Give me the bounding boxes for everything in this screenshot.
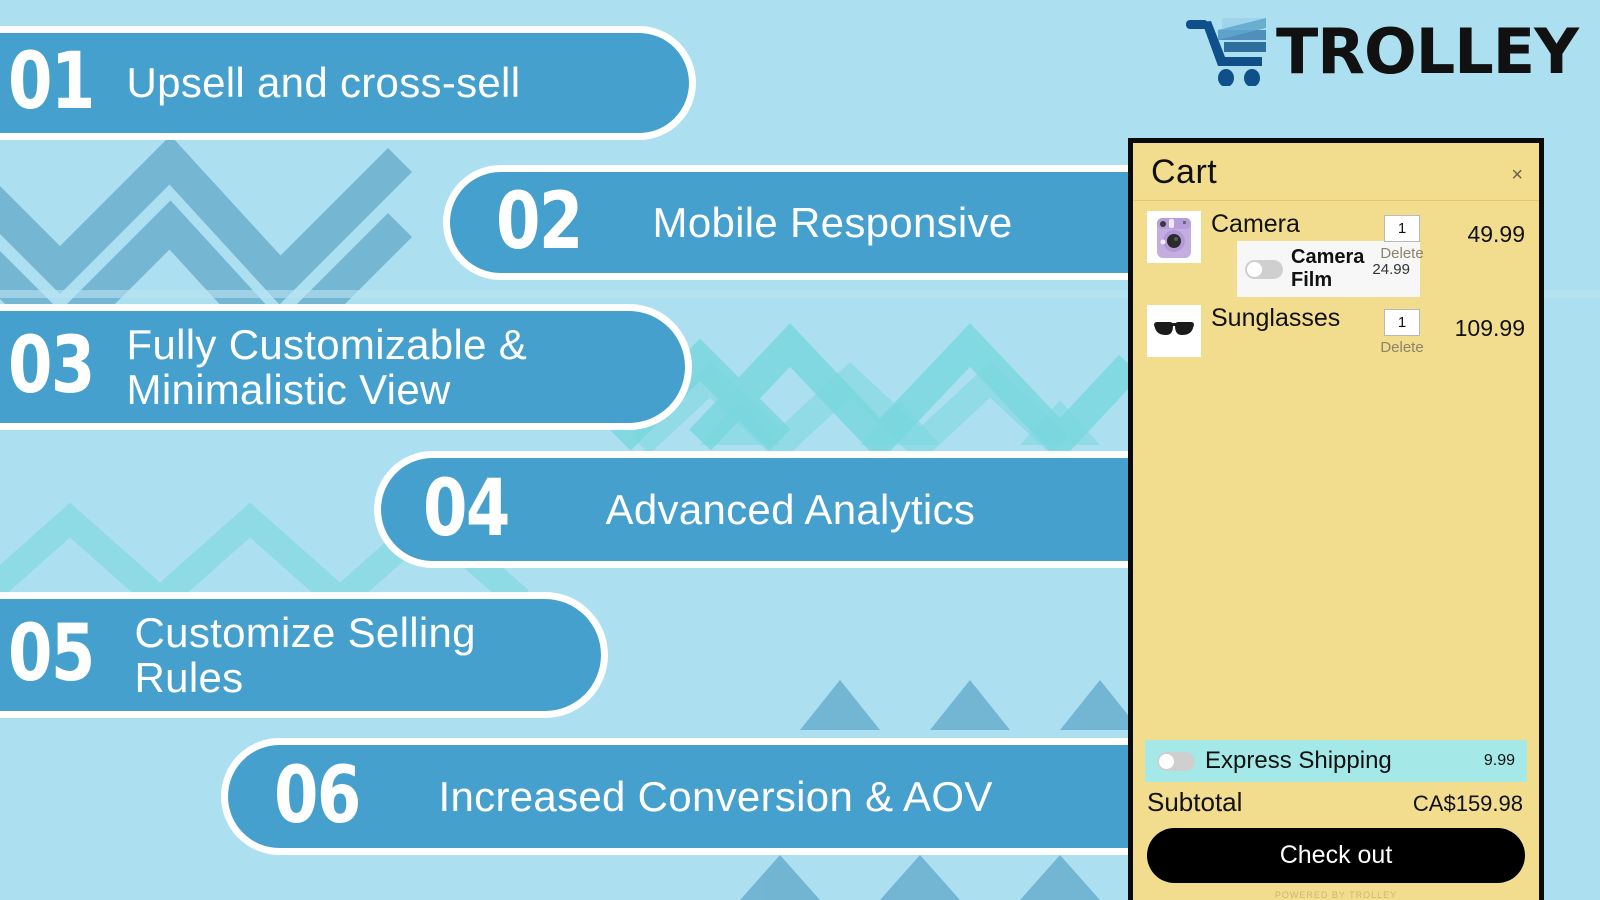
cart-panel: Cart ×: [1128, 138, 1544, 900]
brand-logo: TROLLEY: [1184, 12, 1578, 91]
feature-label: Increased Conversion & AOV: [439, 774, 993, 819]
cart-item-list: Camera Camera Film 24.99 1 Delete 49.99: [1133, 201, 1539, 361]
quantity-input[interactable]: 1: [1384, 215, 1420, 242]
quantity-input[interactable]: 1: [1384, 309, 1420, 336]
shopping-cart-icon: [1184, 12, 1270, 91]
feature-bar-03: 03 Fully Customizable & Minimalistic Vie…: [0, 304, 692, 430]
addon-name: Camera Film: [1291, 246, 1364, 292]
brand-wordmark: TROLLEY: [1276, 21, 1578, 83]
feature-bar-02: 02 Mobile Responsive: [443, 165, 1148, 280]
toggle-off-icon[interactable]: [1157, 752, 1195, 771]
subtotal-label: Subtotal: [1147, 787, 1413, 818]
feature-number: 04: [423, 474, 509, 546]
feature-number: 02: [496, 187, 582, 259]
delete-link[interactable]: Delete: [1371, 245, 1433, 262]
express-shipping-row[interactable]: Express Shipping 9.99: [1145, 740, 1527, 782]
cart-item-name: Sunglasses: [1211, 305, 1371, 331]
feature-bar-04: 04 Advanced Analytics: [374, 451, 1148, 568]
cart-item-price: 109.99: [1433, 305, 1525, 342]
feature-bar-05: 05 Customize Selling Rules: [0, 592, 608, 718]
cart-item-name: Camera: [1211, 211, 1371, 237]
feature-number: 05: [8, 619, 94, 691]
feature-label: Advanced Analytics: [606, 487, 976, 532]
cart-item-price: 49.99: [1433, 211, 1525, 248]
addon-price: 24.99: [1372, 261, 1410, 278]
feature-bar-06: 06 Increased Conversion & AOV: [221, 738, 1148, 855]
cart-item-qty-col: 1 Delete: [1371, 305, 1433, 356]
slide-canvas: TROLLEY 01 Upsell and cross-sell 02 Mobi…: [0, 0, 1600, 900]
feature-label: Upsell and cross-sell: [127, 60, 521, 105]
feature-label: Customize Selling Rules: [135, 610, 476, 701]
cart-item-main: Camera Camera Film 24.99: [1201, 211, 1371, 297]
feature-label: Mobile Responsive: [653, 200, 1013, 245]
close-icon[interactable]: ×: [1511, 165, 1523, 185]
subtotal-value: CA$159.98: [1413, 791, 1523, 817]
sunglasses-thumbnail: [1147, 305, 1201, 357]
delete-link[interactable]: Delete: [1371, 339, 1433, 356]
feature-number: 01: [8, 47, 94, 119]
feature-bar-01: 01 Upsell and cross-sell: [0, 26, 696, 140]
cart-item-qty-col: 1 Delete: [1371, 211, 1433, 262]
checkout-button[interactable]: Check out: [1147, 828, 1525, 883]
express-shipping-label: Express Shipping: [1205, 747, 1474, 775]
express-shipping-price: 9.99: [1484, 752, 1515, 770]
feature-label: Fully Customizable & Minimalistic View: [127, 322, 527, 413]
cart-title: Cart: [1151, 153, 1521, 192]
powered-by-label: POWERED BY TROLLEY: [1133, 883, 1539, 900]
feature-number: 06: [274, 761, 360, 833]
subtotal-row: Subtotal CA$159.98: [1133, 782, 1539, 824]
toggle-off-icon[interactable]: [1245, 260, 1283, 279]
cart-item-row: Sunglasses 1 Delete 109.99: [1133, 301, 1539, 361]
feature-number: 03: [8, 331, 94, 403]
cart-header: Cart ×: [1133, 143, 1539, 201]
cart-item-main: Sunglasses: [1201, 305, 1371, 331]
cart-item-row: Camera Camera Film 24.99 1 Delete 49.99: [1133, 207, 1539, 301]
camera-thumbnail: [1147, 211, 1201, 263]
cart-spacer: [1133, 361, 1539, 740]
